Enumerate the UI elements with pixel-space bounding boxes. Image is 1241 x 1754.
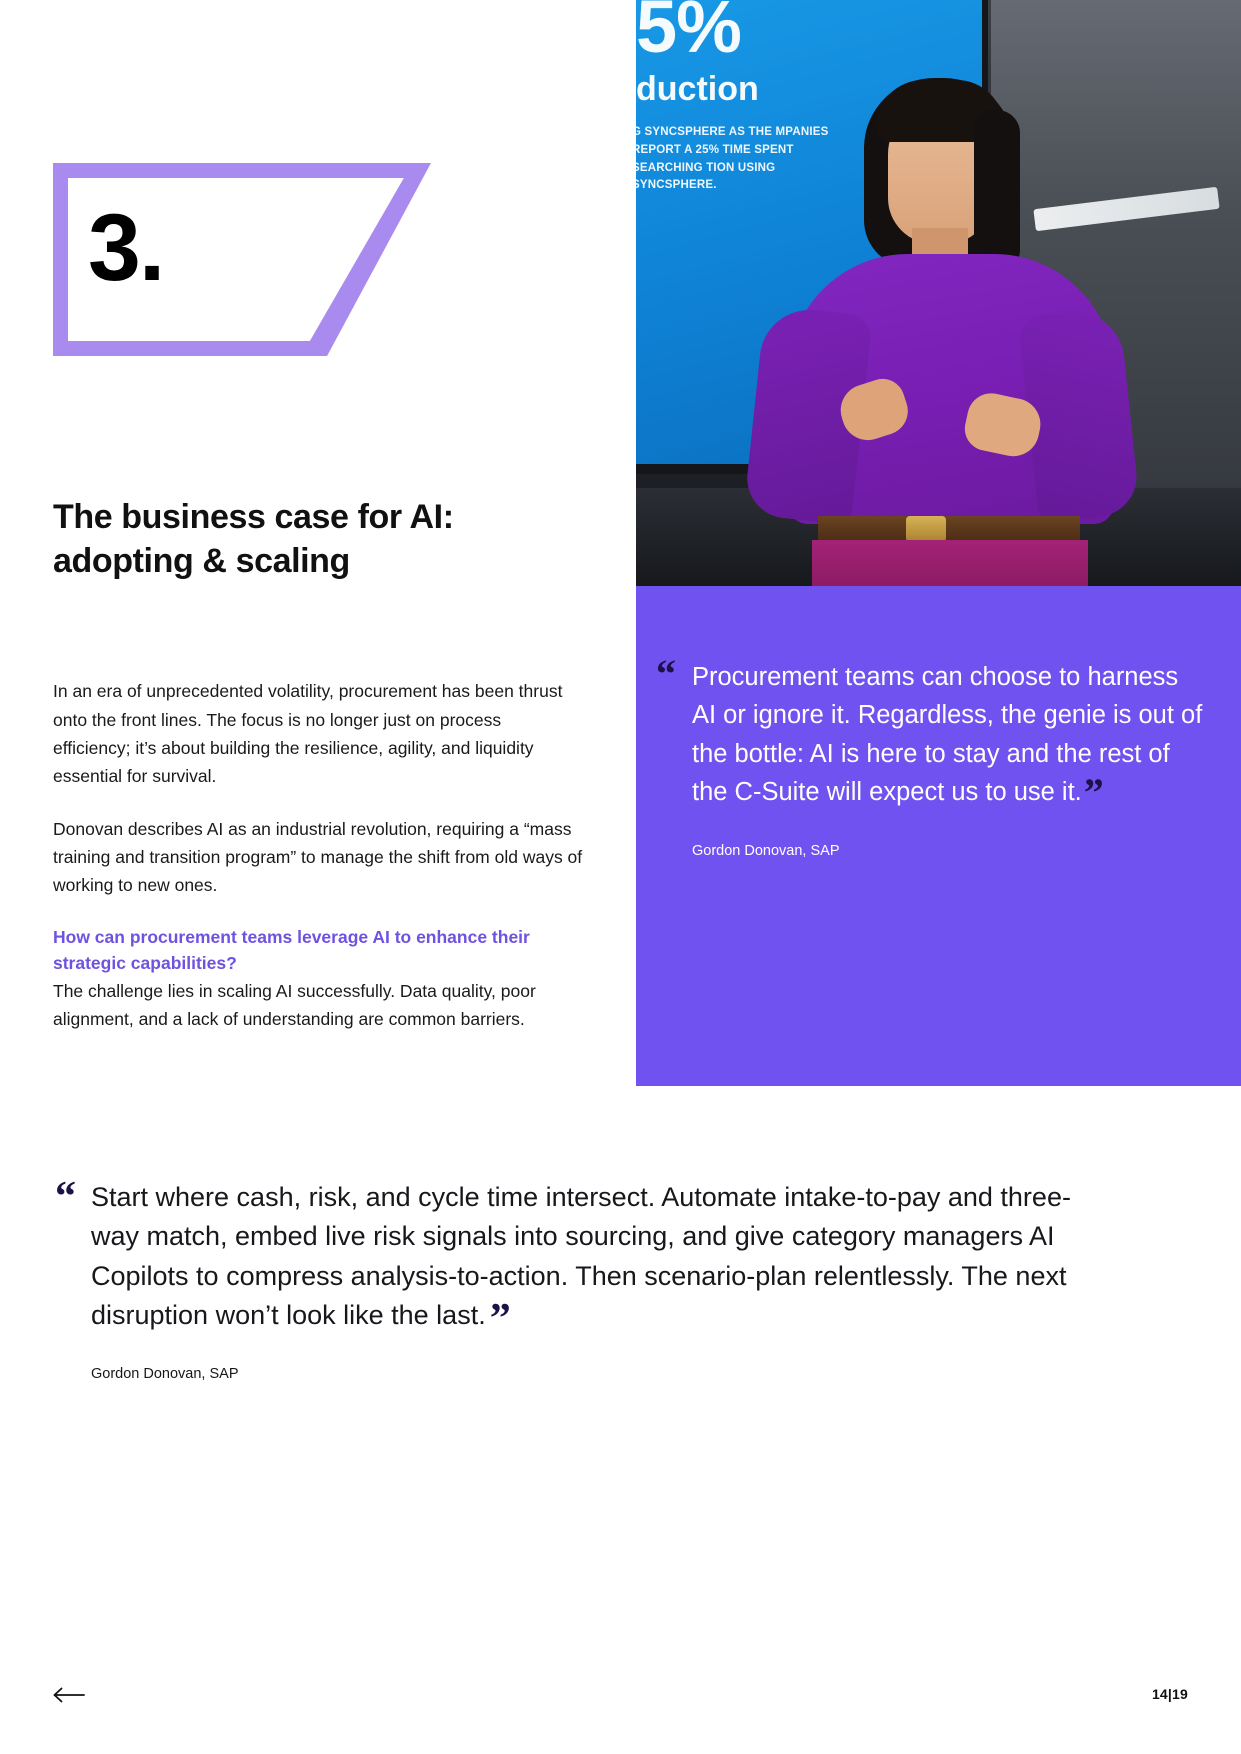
slide-headline: 5%: [636, 0, 741, 69]
body-copy: In an era of unprecedented volatility, p…: [53, 677, 583, 1033]
page-indicator: 14|19: [1152, 1686, 1188, 1702]
speaker-photo: 5% duction G SYNCSPHERE AS THE MPANIES R…: [636, 0, 1241, 586]
section-number-badge: 3.: [53, 163, 431, 356]
photo-person-belt: [818, 516, 1080, 542]
quote-open-mark-icon: “: [656, 654, 676, 694]
pull-quote-inner: “Procurement teams can choose to harness…: [692, 658, 1207, 861]
photo-person-skirt: [812, 540, 1088, 586]
pull-quote-panel: “Procurement teams can choose to harness…: [636, 586, 1241, 1086]
section-number: 3.: [88, 201, 163, 296]
slide-subhead: duction: [636, 70, 759, 109]
body-paragraph-1: In an era of unprecedented volatility, p…: [53, 677, 583, 790]
page-title: The business case for AI: adopting & sca…: [53, 495, 583, 583]
pull-quote-text: Procurement teams can choose to harness …: [692, 663, 1202, 806]
bottom-quote-open-mark-icon: “: [55, 1176, 76, 1218]
pull-quote-attribution: Gordon Donovan, SAP: [692, 841, 1207, 861]
answer-paragraph: The challenge lies in scaling AI success…: [53, 977, 583, 1034]
bottom-quote-text: Start where cash, risk, and cycle time i…: [91, 1182, 1071, 1330]
bottom-quote-block: “Start where cash, risk, and cycle time …: [55, 1178, 1105, 1382]
document-page: 3. The business case for AI: adopting & …: [0, 0, 1241, 1754]
slide-body-text: G SYNCSPHERE AS THE MPANIES REPORT A 25%…: [636, 124, 862, 195]
bottom-quote-attribution: Gordon Donovan, SAP: [55, 1366, 1105, 1382]
pull-quote-text-wrapper: “Procurement teams can choose to harness…: [692, 658, 1207, 811]
question-heading: How can procurement teams leverage AI to…: [53, 924, 583, 977]
left-column: The business case for AI: adopting & sca…: [53, 495, 583, 1034]
bottom-quote-text-wrapper: “Start where cash, risk, and cycle time …: [55, 1178, 1105, 1336]
photo-person-belt-buckle: [906, 516, 946, 542]
arrow-left-icon[interactable]: [53, 1684, 87, 1706]
body-paragraph-2: Donovan describes AI as an industrial re…: [53, 815, 583, 900]
